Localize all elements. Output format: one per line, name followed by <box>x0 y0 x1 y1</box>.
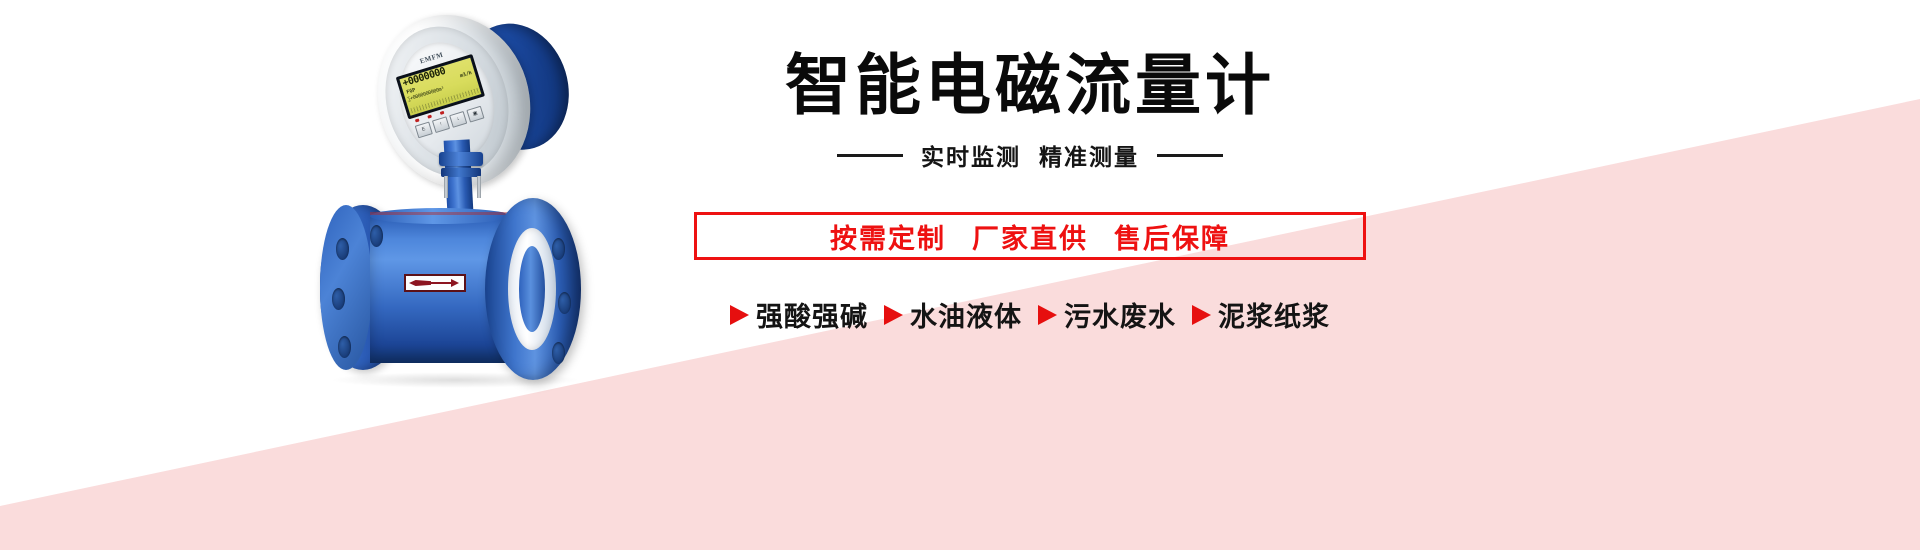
collar-bolt-left <box>444 176 448 198</box>
feature-label: 强酸强碱 <box>756 295 868 334</box>
promo-item-1: 按需定制 <box>830 217 946 256</box>
flange-right-bore <box>519 246 545 332</box>
flange-bolt-hole <box>332 288 345 310</box>
arrow-right-icon <box>1192 305 1211 325</box>
page-title: 智能电磁流量计 <box>660 48 1400 122</box>
feature-item-sewage-wastewater: 污水废水 <box>1038 295 1176 334</box>
arrow-right-icon <box>884 305 903 325</box>
feature-label: 泥浆纸浆 <box>1218 295 1330 334</box>
feature-label: 水油液体 <box>910 295 1022 334</box>
promo-item-3: 售后保障 <box>1114 217 1230 256</box>
text-content: 智能电磁流量计 实时监测 精准测量 按需定制 厂家直供 售后保障 强酸强碱 水油… <box>660 0 1400 550</box>
flowmeter-illustration: EMFM +0000000 FGP m3/h ∑+0000000000m³ <box>300 0 720 550</box>
collar-bolt-right <box>477 176 481 198</box>
subtitle-right: 精准测量 <box>1039 138 1139 172</box>
flange-bolt-hole <box>370 225 383 247</box>
promo-item-2: 厂家直供 <box>972 217 1088 256</box>
promo-box: 按需定制 厂家直供 售后保障 <box>694 212 1366 260</box>
feature-item-slurry-pulp: 泥浆纸浆 <box>1192 295 1330 334</box>
feature-list: 强酸强碱 水油液体 污水废水 泥浆纸浆 <box>630 295 1430 334</box>
flange-bolt-hole <box>552 238 565 260</box>
flange-bolt-hole <box>558 292 571 314</box>
feature-item-water-oil-liquid: 水油液体 <box>884 295 1022 334</box>
product-shadow <box>330 372 580 388</box>
flange-bolt-hole <box>338 336 351 358</box>
pipe-collar-upper <box>439 152 483 166</box>
flange-bolt-hole <box>336 238 349 260</box>
flange-bolt-hole <box>552 342 565 364</box>
subtitle-rule-left <box>837 154 903 157</box>
sensor-body-top <box>370 208 510 224</box>
feature-item-strong-acid-alkali: 强酸强碱 <box>730 295 868 334</box>
arrow-right-icon <box>730 305 749 325</box>
flow-arrow-head-icon <box>451 279 459 287</box>
subtitle-rule-right <box>1157 154 1223 157</box>
subtitle-row: 实时监测 精准测量 <box>660 138 1400 172</box>
flow-direction-label <box>404 274 466 292</box>
sensor-body-seam <box>370 212 510 215</box>
arrow-right-icon <box>1038 305 1057 325</box>
flow-arrow-icon <box>409 279 459 287</box>
feature-label: 污水废水 <box>1064 295 1176 334</box>
subtitle-left: 实时监测 <box>921 138 1021 172</box>
product-banner: EMFM +0000000 FGP m3/h ∑+0000000000m³ <box>0 0 1920 550</box>
